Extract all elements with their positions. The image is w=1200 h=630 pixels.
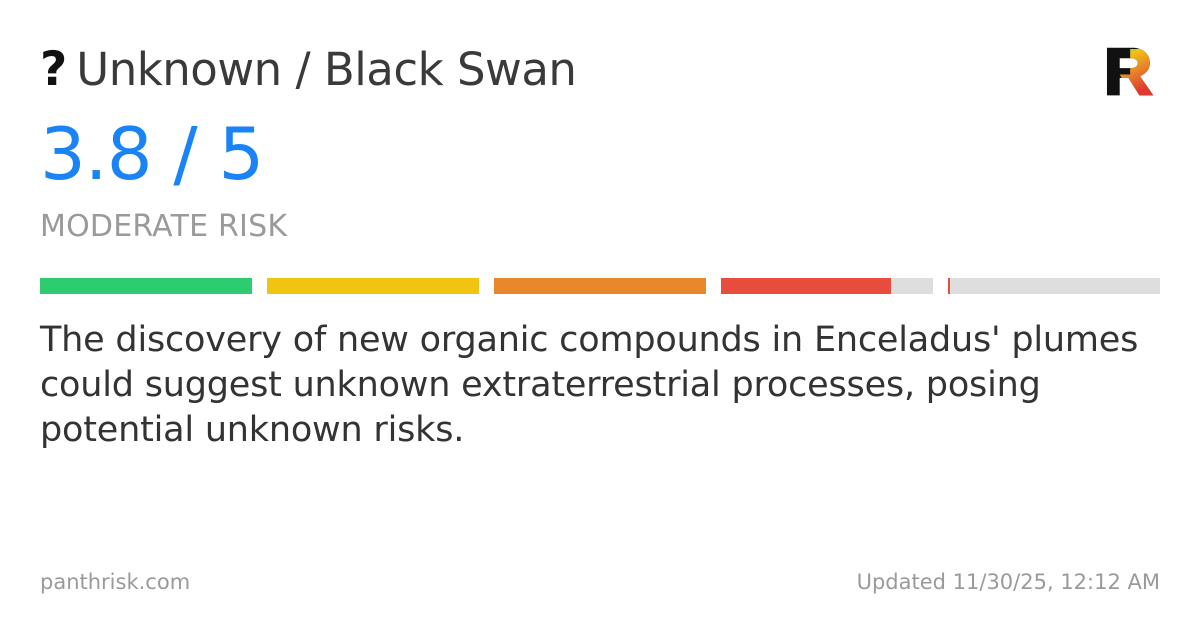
meter-segment bbox=[494, 278, 706, 294]
meter-segment-fill bbox=[267, 278, 479, 294]
meter-segment bbox=[40, 278, 252, 294]
updated-timestamp: Updated 11/30/25, 12:12 AM bbox=[857, 570, 1160, 594]
meter-segment-fill bbox=[948, 278, 950, 294]
category-title: Unknown / Black Swan bbox=[76, 47, 576, 92]
meter-segment-fill bbox=[721, 278, 891, 294]
risk-summary-card: ? Unknown / Black Swan bbox=[0, 0, 1200, 630]
risk-description: The discovery of new organic compounds i… bbox=[40, 318, 1160, 452]
risk-meter bbox=[40, 278, 1160, 294]
question-mark-icon: ? bbox=[40, 46, 66, 93]
footer: panthrisk.com Updated 11/30/25, 12:12 AM bbox=[40, 570, 1160, 594]
risk-score: 3.8 / 5 bbox=[40, 118, 1160, 190]
header-row: ? Unknown / Black Swan bbox=[40, 40, 1160, 100]
site-name: panthrisk.com bbox=[40, 570, 190, 594]
meter-segment-fill bbox=[494, 278, 706, 294]
meter-segment-fill bbox=[40, 278, 252, 294]
risk-level-label: MODERATE RISK bbox=[40, 212, 1160, 242]
meter-segment bbox=[267, 278, 479, 294]
meter-segment bbox=[948, 278, 1160, 294]
panthrisk-logo bbox=[1100, 42, 1158, 100]
meter-segment bbox=[721, 278, 933, 294]
page-title: ? Unknown / Black Swan bbox=[40, 46, 576, 93]
